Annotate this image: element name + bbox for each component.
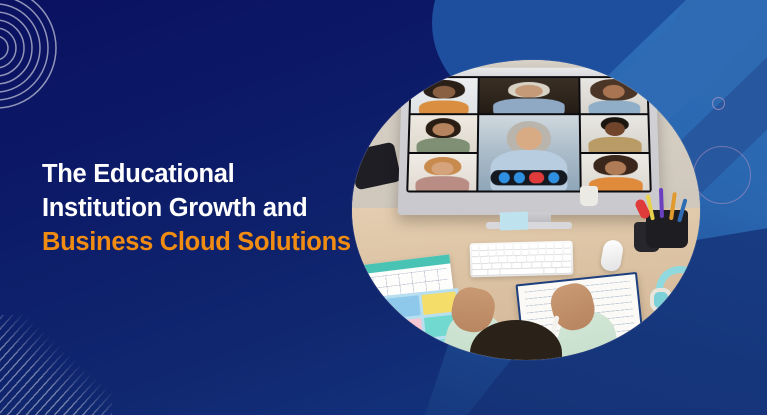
sticky-note-on-monitor <box>500 212 529 231</box>
participant-tile <box>581 116 649 152</box>
sticky-note <box>386 318 422 341</box>
circle-outline-icon <box>693 146 751 204</box>
call-controls[interactable] <box>490 170 567 185</box>
camera-icon[interactable] <box>514 172 525 183</box>
participant-tile <box>409 116 477 152</box>
hero-photo-scene <box>352 60 700 360</box>
keyboard <box>470 241 574 278</box>
microphone-icon[interactable] <box>499 172 510 183</box>
hero-photo <box>352 60 700 360</box>
participant-tile <box>411 78 478 113</box>
participant-tile <box>479 78 579 113</box>
participant-tile <box>581 154 649 191</box>
headphone-earcup <box>650 288 672 312</box>
headline-line-3-accent: Business Cloud Solutions <box>42 225 347 259</box>
share-screen-icon[interactable] <box>548 172 559 183</box>
sticky-note <box>384 295 420 318</box>
banner-root: The Educational Institution Growth and B… <box>0 0 767 415</box>
circle-outline-icon <box>712 97 725 110</box>
headphones <box>652 266 700 312</box>
headphone-earcup <box>688 288 700 312</box>
pen-holder <box>646 210 688 248</box>
participant-tile <box>408 154 476 191</box>
sticky-note <box>389 341 425 360</box>
coffee-cup <box>580 186 598 206</box>
monitor <box>400 66 658 214</box>
participant-tile <box>580 78 647 113</box>
end-call-icon[interactable] <box>529 172 544 183</box>
participant-tile-main <box>478 116 580 191</box>
video-call-grid <box>408 78 649 190</box>
concentric-rings-icon <box>0 0 86 126</box>
diagonal-hatch-icon <box>0 315 112 415</box>
page-title: The Educational Institution Growth and B… <box>42 157 347 259</box>
monitor-screen <box>406 76 652 192</box>
monitor-stand-base <box>486 222 572 229</box>
headline-line-2: Institution Growth and <box>42 191 347 225</box>
headline-line-1: The Educational <box>42 157 347 191</box>
